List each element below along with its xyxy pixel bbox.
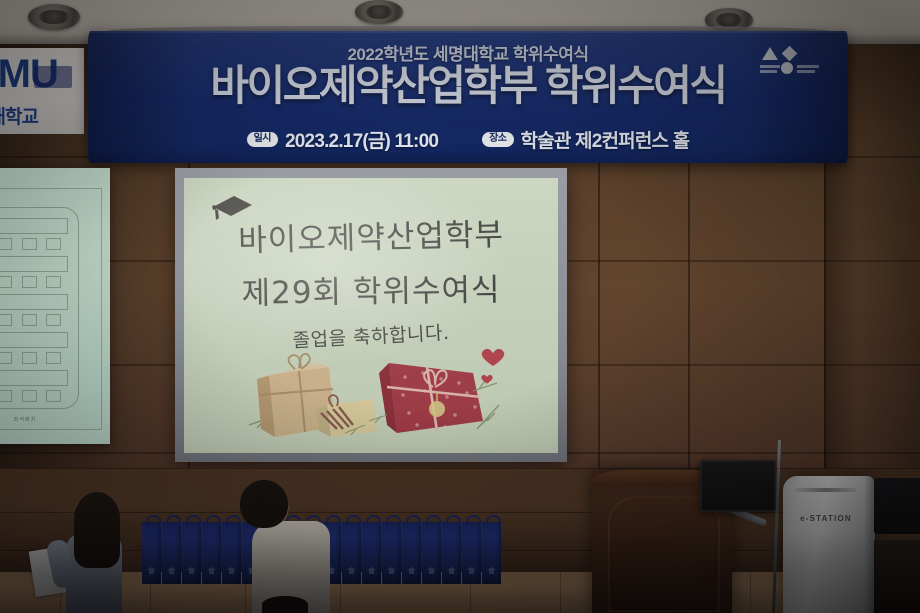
gift-bag [162,522,181,584]
main-projection-screen: 바이오제약산업학부 제29회 학위수여식 졸업을 축하합니다. [175,168,567,462]
podium-monitor [700,460,776,512]
slide-surface: 바이오제약산업학부 제29회 학위수여식 졸업을 축하합니다. [184,178,558,453]
seat [0,314,12,326]
gift-bag [422,522,441,584]
seat [22,390,37,402]
ceiling-speaker-icon [28,4,80,30]
av-rack-base [874,540,920,613]
seating-chart-document: 좌석배치 [0,188,102,430]
gift-bag [182,522,201,584]
gift-bag [482,522,501,584]
university-logo-icon [754,43,826,85]
seat [46,352,61,364]
podium-front-panel [608,496,720,612]
screen-edge [0,168,24,186]
seating-row-seats [0,390,66,402]
seat [0,276,12,288]
event-banner: 2022학년도 세명대학교 학위수여식 바이오제약산업학부 학위수여식 일시 2… [88,31,848,163]
gift-bag [202,522,221,584]
av-rack-panel [874,478,920,534]
gift-bag [462,522,481,584]
banner-place-field: 장소 학술관 제2컨퍼런스 홀 [482,126,689,153]
banner-date-value: 2023.2.17(금) 11:00 [285,126,438,153]
seating-chart-caption: 좌석배치 [0,416,101,423]
seat [46,238,61,250]
seat [22,314,37,326]
foreground-person-head [262,596,308,613]
seat [22,352,37,364]
banner-date-chip: 일시 [247,132,278,147]
conference-hall-photo: SMU 명대학교 2022학년도 세명대학교 학위수여식 바이오제약산업학부 학… [0,0,920,613]
gift-bag [442,522,461,584]
seating-row-seats [0,238,66,250]
wall-seam [0,512,920,513]
seat [22,276,37,288]
woman-hair [74,492,120,568]
seating-row-bar [0,370,68,386]
seat [46,276,61,288]
station-vent-slot [795,488,857,492]
gift-bag [142,522,161,584]
gift-bag [362,522,381,584]
seating-row-bar [0,218,68,234]
gift-boxes-illustration [237,329,505,447]
seating-row-bar [0,332,68,348]
podium-nameplate [34,66,72,88]
banner-board: 2022학년도 세명대학교 학위수여식 바이오제약산업학부 학위수여식 일시 2… [88,31,848,163]
slide-headline-department: 바이오제약산업학부 [184,207,558,261]
ceiling-speaker-icon [355,0,403,24]
secondary-projection-screen: 좌석배치 [0,168,110,444]
slide-headline-ceremony: 제29회 학위수여식 [184,263,558,313]
seat [46,390,61,402]
seat [22,238,37,250]
banner-place-chip: 장소 [482,132,513,147]
seat [46,314,61,326]
gift-bag [382,522,401,584]
seat [0,352,12,364]
seating-row-bar [0,256,68,272]
wall-seam [0,468,920,469]
seating-row-seats [0,314,66,326]
gift-bag [342,522,361,584]
banner-title: 바이오제약산업학부 학위수여식 [88,64,848,108]
seating-row-seats [0,352,66,364]
wall-sign-name: 명대학교 [0,102,38,129]
seat [0,390,12,402]
seating-chart-card [0,207,79,409]
seating-row-seats [0,276,66,288]
seating-row-bar [0,294,68,310]
gift-bag [402,522,421,584]
banner-date-field: 일시 2023.2.17(금) 11:00 [247,126,439,153]
station-brand-label: e-STATION [783,514,869,523]
banner-place-value: 학술관 제2컨퍼런스 홀 [521,126,690,153]
man-hair [240,480,288,528]
gift-bag [222,522,241,584]
av-equipment-station: e-STATION [783,476,875,613]
seat [0,238,12,250]
banner-details: 일시 2023.2.17(금) 11:00 장소 학술관 제2컨퍼런스 홀 [88,126,848,153]
wall-sign-smu: SMU 명대학교 [0,48,84,134]
